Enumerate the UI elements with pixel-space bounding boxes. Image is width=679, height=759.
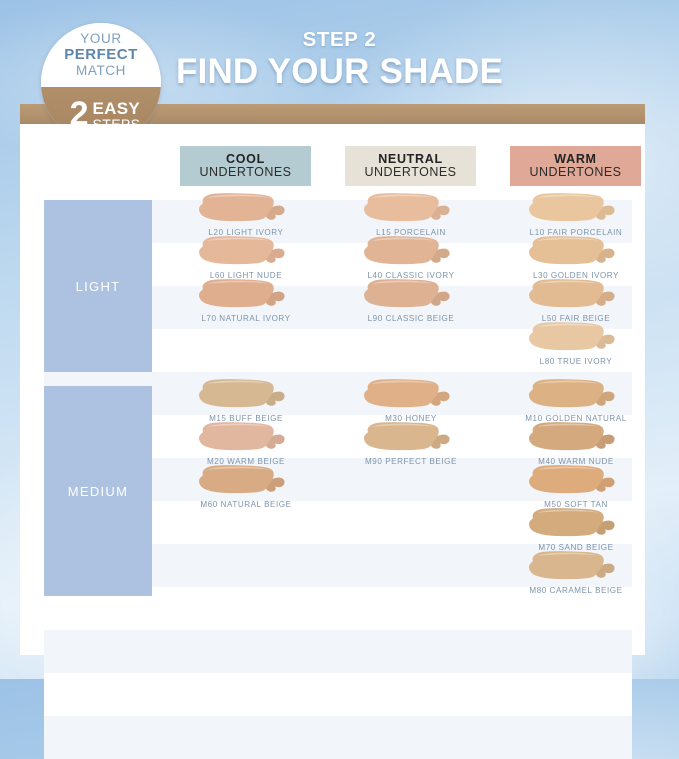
shade-cell[interactable]: M60 NATURAL BEIGE (171, 472, 321, 515)
shade-cell[interactable]: L70 NATURAL IVORY (171, 286, 321, 329)
undertone-header-cool[interactable]: COOL UNDERTONES (180, 146, 311, 186)
shade-swatch-icon (171, 191, 321, 231)
shade-finder-card: COOL UNDERTONES NEUTRAL UNDERTONES WARM … (20, 124, 645, 655)
shade-swatch-icon (501, 463, 651, 503)
shade-name-label: L70 NATURAL IVORY (171, 314, 321, 323)
undertone-neutral-subtitle: UNDERTONES (364, 166, 456, 180)
table-row (44, 673, 632, 716)
shade-swatch-icon (501, 277, 651, 317)
shade-swatch-icon (501, 234, 651, 274)
shade-swatch-icon (501, 191, 651, 231)
shade-cell[interactable]: L80 TRUE IVORY (501, 329, 651, 372)
badge-easy-label: EASY (93, 100, 141, 117)
shade-swatch-icon (171, 420, 321, 460)
undertone-cool-title: COOL (226, 153, 265, 167)
shade-cell[interactable]: L90 CLASSIC BEIGE (336, 286, 486, 329)
table-row (44, 716, 632, 759)
level-block-light: LIGHT (44, 200, 152, 372)
undertone-cool-subtitle: UNDERTONES (199, 166, 291, 180)
undertone-warm-subtitle: UNDERTONES (529, 166, 621, 180)
undertone-warm-title: WARM (554, 153, 596, 167)
shade-swatch-icon (171, 277, 321, 317)
undertone-header-neutral[interactable]: NEUTRAL UNDERTONES (345, 146, 476, 186)
shade-name-label: M90 PERFECT BEIGE (336, 457, 486, 466)
shade-cell[interactable]: M80 CARAMEL BEIGE (501, 558, 651, 601)
level-label-medium: MEDIUM (68, 484, 129, 499)
shade-swatch-icon (336, 191, 486, 231)
shade-name-label: L80 TRUE IVORY (501, 357, 651, 366)
shade-swatch-icon (336, 234, 486, 274)
shade-name-label: M80 CARAMEL BEIGE (501, 586, 651, 595)
shade-name-label: M60 NATURAL BEIGE (171, 500, 321, 509)
level-block-medium: MEDIUM (44, 386, 152, 596)
shade-swatch-icon (336, 277, 486, 317)
shade-swatch-icon (501, 320, 651, 360)
shade-name-label: L90 CLASSIC BEIGE (336, 314, 486, 323)
badge-your-label: YOUR (80, 31, 121, 46)
shade-swatch-icon (171, 377, 321, 417)
shade-swatch-icon (336, 420, 486, 460)
shade-swatch-icon (501, 549, 651, 589)
shade-swatch-icon (501, 377, 651, 417)
shade-swatch-icon (171, 463, 321, 503)
undertone-header-row: COOL UNDERTONES NEUTRAL UNDERTONES WARM … (20, 146, 645, 186)
level-label-light: LIGHT (76, 279, 121, 294)
shade-cell[interactable]: M90 PERFECT BEIGE (336, 429, 486, 472)
shade-swatch-icon (171, 234, 321, 274)
badge-top-half: YOUR PERFECT MATCH (41, 23, 161, 87)
shade-swatch-icon (501, 420, 651, 460)
shade-swatch-icon (501, 506, 651, 546)
shade-swatch-icon (336, 377, 486, 417)
table-row (44, 630, 632, 673)
badge-match-label: MATCH (76, 63, 126, 78)
undertone-header-warm[interactable]: WARM UNDERTONES (510, 146, 641, 186)
badge-perfect-label: PERFECT (64, 47, 138, 64)
undertone-neutral-title: NEUTRAL (378, 153, 443, 167)
